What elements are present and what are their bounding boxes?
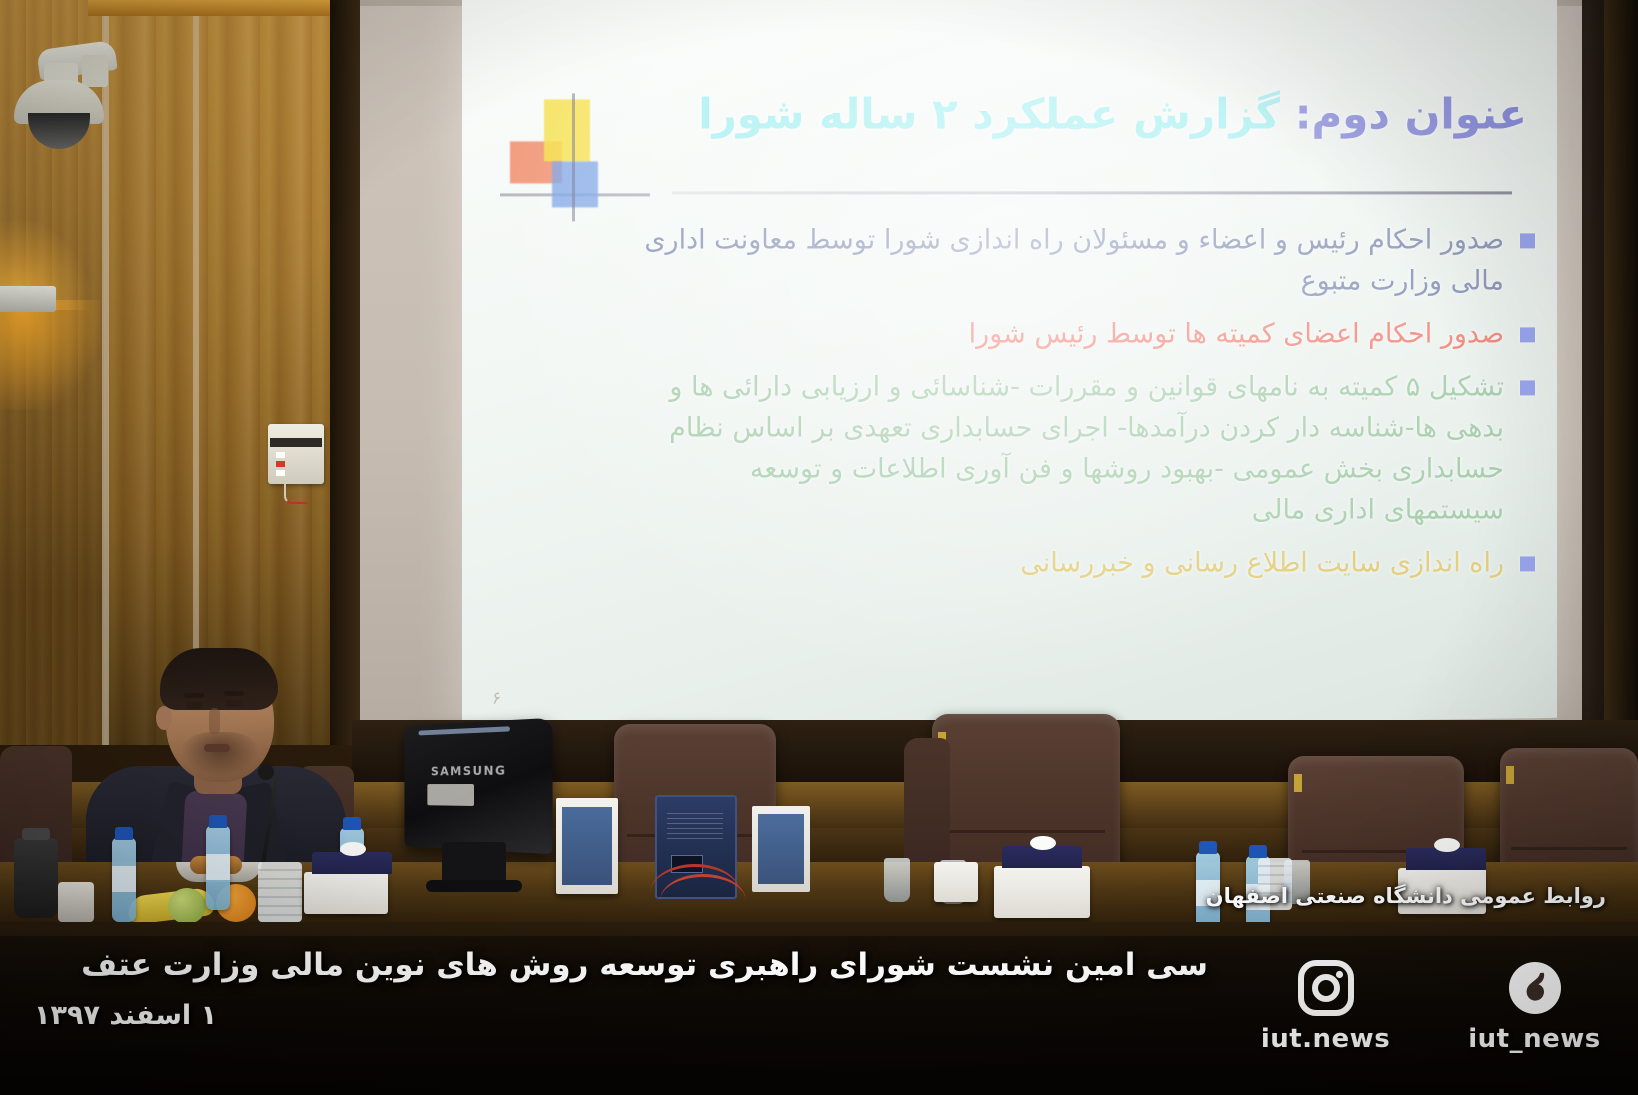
slide-page-number: ۶ [492,688,501,708]
water-bottle [206,826,230,910]
bullet-text: راه اندازی سایت اطلاع رسانی و خبررسانی [635,543,1504,584]
slide-decoration-blocks [510,99,630,219]
bullet-text: صدور احکام رئیس و اعضاء و مسئولان راه ان… [635,219,1504,301]
bullet-marker-icon [1520,233,1535,248]
apple [168,888,206,924]
cup-stack [258,862,302,922]
projection-screen: عنوان دوم: گزارش عملکرد ۲ ساله شورا صدور… [462,0,1557,735]
bullet-marker-icon [1520,327,1535,342]
slide-title-highlight: گزارش عملکرد ۲ ساله شورا [698,89,1280,138]
event-caption: سی امین نشست شورای راهبری توسعه روش های … [58,946,1208,985]
slide-title-underline [672,191,1512,194]
microphone-icon [258,764,274,780]
monitor-brand-label: SAMSUNG [431,763,507,778]
wall-sconce-light [0,286,56,312]
social-handles: iut_news iut.news [1248,960,1612,1054]
wall-shadow-strip [330,0,360,745]
drinking-glass [884,858,910,902]
presentation-slide: عنوان دوم: گزارش عملکرد ۲ ساله شورا صدور… [462,0,1557,726]
list-item: راه اندازی سایت اطلاع رسانی و خبررسانی [635,543,1535,584]
bullet-marker-icon [1520,380,1535,395]
wall-control-panel [268,424,324,484]
tissue-box [994,866,1090,918]
cable-bundle [640,860,770,915]
social-handle-label: iut_news [1468,1024,1601,1054]
slide-title: عنوان دوم: گزارش عملکرد ۲ ساله شورا [647,91,1527,137]
sugar-holder [58,882,94,922]
slide-bullet-list: صدور احکام رئیس و اعضاء و مسئولان راه ان… [635,219,1535,595]
list-item: صدور احکام اعضای کمیته ها توسط رئیس شورا [635,313,1535,354]
computer-monitor: SAMSUNG [398,722,550,892]
bullet-text: صدور احکام اعضای کمیته ها توسط رئیس شورا [635,313,1504,354]
wall-light-glow-lower [0,300,100,410]
list-item: صدور احکام رئیس و اعضاء و مسئولان راه ان… [635,219,1535,301]
social-account-instagram[interactable]: iut.news [1248,960,1403,1054]
list-item: تشکیل ۵ کمیته به نامهای قوانین و مقررات … [635,366,1535,530]
social-account-soroush[interactable]: iut_news [1457,960,1612,1054]
tissue-box [304,872,388,914]
name-plate [752,806,810,892]
tissue-box [934,862,978,902]
water-bottle [112,838,136,922]
bullet-text: تشکیل ۵ کمیته به نامهای قوانین و مقررات … [635,366,1504,530]
photo-frame: عنوان دوم: گزارش عملکرد ۲ ساله شورا صدور… [0,0,1638,1095]
thermos-flask [14,838,58,918]
bullet-marker-icon [1520,557,1535,572]
slide-title-prefix: عنوان دوم: [1280,89,1527,138]
meeting-room-background: عنوان دوم: گزارش عملکرد ۲ ساله شورا صدور… [0,0,1638,1095]
panel-seam-2 [193,0,199,745]
right-wall-edge [1604,0,1638,760]
event-date: ۱ اسفند ۱۳۹۷ [34,1000,217,1031]
instagram-icon [1298,960,1354,1016]
name-plate [556,798,618,894]
public-relations-credit: روابط عمومی دانشگاه صنعتی اصفهان [1136,884,1606,908]
social-handle-label: iut.news [1261,1024,1390,1054]
security-camera-icon [10,45,115,160]
soroush-icon [1507,960,1563,1016]
wood-crown-molding [88,0,338,16]
